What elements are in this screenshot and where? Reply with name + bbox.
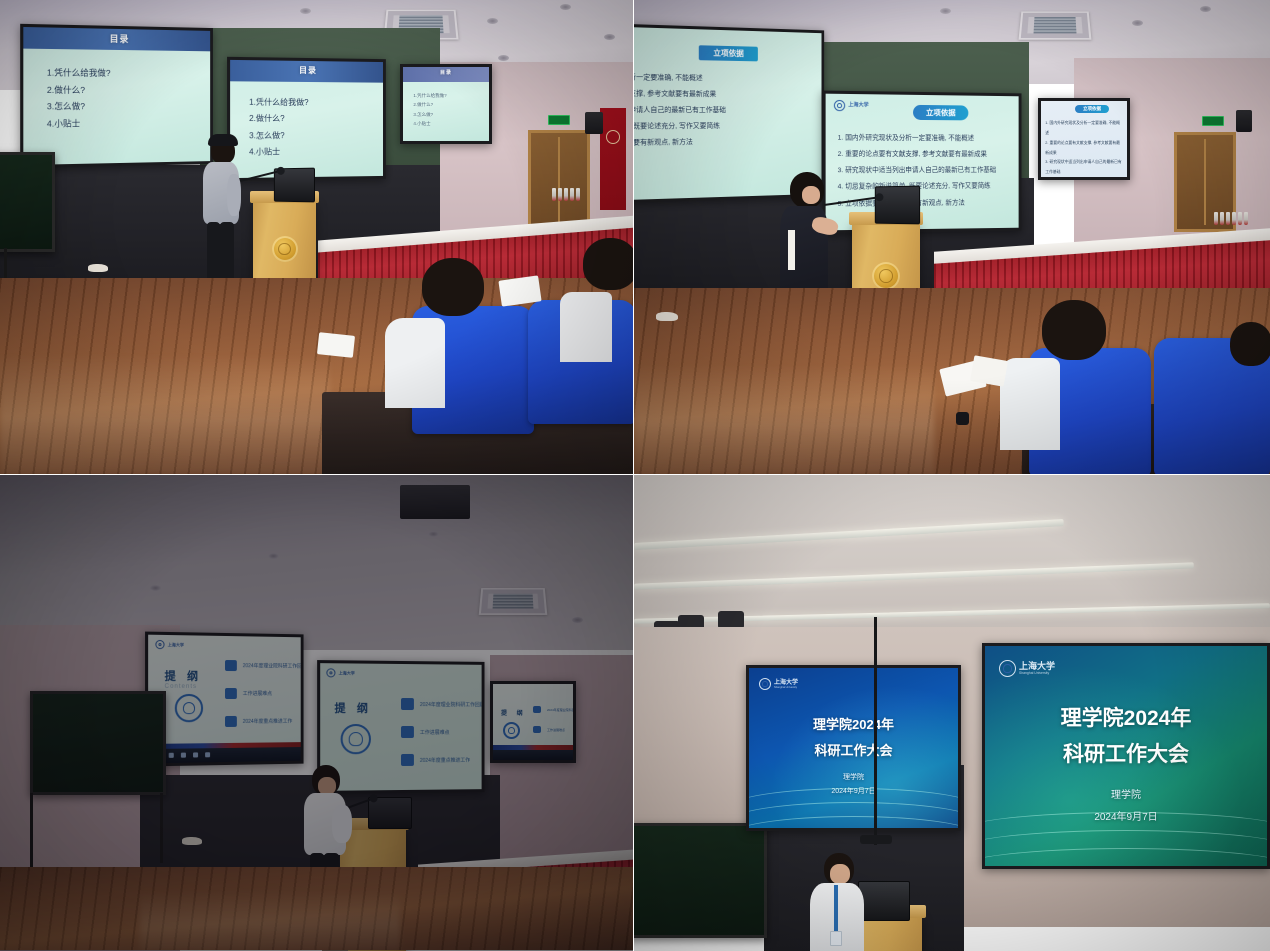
logo-ring-icon	[999, 660, 1016, 677]
downlight-icon	[428, 531, 439, 537]
audience-head	[583, 238, 633, 290]
slide-title-badge: 立项依据	[913, 105, 968, 121]
logo-text: 上海大学	[168, 643, 184, 647]
audience-head	[1230, 322, 1270, 366]
audience-papers	[317, 332, 355, 358]
university-emblem-icon	[341, 724, 371, 754]
podium-emblem-icon	[272, 236, 298, 262]
hall-door[interactable]	[528, 130, 590, 232]
outline-chip-icon	[401, 754, 414, 766]
slide-bullet: 4.小贴士	[413, 119, 484, 128]
outline-item: 2024年度重点推进工作	[401, 754, 470, 766]
university-logo: 上海大学	[326, 668, 354, 677]
taskbar-icon[interactable]	[169, 752, 174, 757]
slide-bullet: 1.凭什么给我做?	[47, 64, 200, 82]
audience-head	[422, 258, 484, 316]
downlight-icon	[604, 34, 615, 40]
slide-bullet: 1. 国内外研究现状及分析一定要准确, 不能概述	[838, 130, 1008, 147]
slide-bullet: 4. 切忌复杂的新说简单, 既要论述充分, 写作又要简练	[1045, 178, 1122, 180]
projection-screen-left: 上海大学 提 纲 Contents 2024年度理业院科研工作回顾 工作进展难点…	[145, 632, 304, 767]
slide-title: 提 纲	[501, 708, 527, 717]
slide-bullet: 2.做什么?	[47, 81, 200, 98]
projection-screen-left: 目录 1.凭什么给我做? 2.做什么? 3.怎么做? 4.小贴士	[20, 24, 213, 168]
collage-panel-bottom-left[interactable]: 上海大学 提 纲 Contents 2024年度理业院科研工作回顾 工作进展难点…	[0, 475, 634, 951]
lanyard	[834, 885, 838, 933]
projection-screen-left: 上海大学 Shanghai University 理学院2024年 科研工作大会…	[746, 665, 961, 831]
slide-org: 理学院	[749, 772, 958, 782]
university-emblem-icon	[175, 694, 203, 722]
slide-bullet: 3.怎么做?	[249, 128, 374, 145]
slide-title-badge: 立项依据	[1075, 105, 1109, 113]
taskbar-icon[interactable]	[205, 752, 210, 757]
slide-bullet-list: 1.凭什么给我做? 2.做什么? 3.怎么做? 4.小贴士	[47, 64, 200, 132]
outline-item-label: 2024年度理业院科研工作回顾	[420, 701, 485, 708]
decorative-wave	[982, 848, 1270, 869]
slide-bullet: 2. 重要的论点要有文献支撑, 参考文献要有最新成果	[838, 147, 1008, 163]
downlight-icon	[498, 55, 509, 61]
slide-bullet: 1.凭什么给我做?	[413, 91, 484, 100]
stray-shoes	[656, 312, 678, 321]
speaker-icon	[585, 112, 603, 134]
downlight-icon	[1132, 20, 1143, 26]
slide-bullet: 1.凭什么给我做?	[249, 95, 374, 112]
blackboard	[30, 691, 166, 795]
university-logo: 上海大学 Shanghai University	[759, 678, 798, 690]
slide-title: 提 纲	[165, 667, 203, 683]
ceiling	[0, 475, 633, 650]
blackboard-leg	[30, 793, 33, 867]
outline-item: 2024年度重点推进工作	[225, 716, 292, 727]
slide-bullet: 4.小贴士	[47, 114, 200, 132]
audience-shirt	[1000, 358, 1060, 450]
speaker	[810, 853, 866, 951]
slide-bullet: 2. 重要的论点要有文献支撑, 参考文献要有最新成果	[634, 86, 806, 104]
outline-item: 2024年度理业院科研工作回顾	[225, 660, 304, 672]
outline-item: 工作进展难点	[533, 726, 565, 733]
podium-emblem-icon	[872, 262, 900, 290]
outline-item: 工作进展难点	[225, 688, 272, 699]
slide-title-line1: 理学院2024年	[749, 716, 958, 735]
audience-papers	[970, 355, 1008, 387]
outline-item-label: 2024年度理业院科研工作回顾	[547, 708, 576, 712]
water-bottles	[552, 188, 580, 201]
downlight-icon	[940, 8, 951, 14]
ceiling-projector	[400, 485, 470, 519]
projection-screen-right: 提 纲 2024年度理业院科研工作回顾 工作进展难点 2024年度重点推进工作	[490, 681, 576, 763]
photo-collage: 目录 1.凭什么给我做? 2.做什么? 3.怎么做? 4.小贴士 目录 1.凭什…	[0, 0, 1270, 951]
microphone-stand	[874, 617, 877, 845]
water-bottles	[1214, 212, 1248, 225]
outline-item: 2024年度理业院科研工作回顾	[533, 706, 576, 713]
presenter-arm	[227, 174, 241, 216]
exit-sign-icon	[1202, 116, 1224, 126]
slide-bullet: 3.怎么做?	[413, 110, 484, 119]
logo-text: 上海大学	[848, 103, 868, 108]
audience-shirt	[385, 318, 445, 408]
outline-item-label: 工作进展难点	[547, 728, 565, 732]
ac-cassette-icon	[479, 588, 548, 615]
logo-ring-icon	[326, 668, 335, 677]
laptop[interactable]	[875, 186, 920, 225]
outline-chip-icon	[533, 726, 541, 733]
stray-shoes	[182, 837, 202, 845]
presenter-cap	[208, 134, 238, 146]
downlight-icon	[300, 8, 311, 14]
microphone-base	[860, 835, 892, 844]
slide-bullet-list: 1. 国内外研究现状及分析一定要准确, 不能概述 2. 重要的论点要有文献支撑,…	[1045, 119, 1122, 180]
slide-title: 目录	[230, 64, 383, 77]
outline-item-label: 2024年度重点推进工作	[420, 756, 470, 763]
outline-item-label: 2024年度理业院科研工作回顾	[243, 662, 304, 669]
slide-bullet: 3. 研究现状中适当列出申请人自己的最新已有工作基础	[1045, 158, 1122, 178]
red-banner	[600, 108, 626, 210]
logo-subtext: Shanghai University	[1019, 671, 1055, 675]
stray-shoes	[88, 264, 108, 272]
audience-head	[1042, 300, 1106, 360]
speaker-face	[830, 864, 850, 884]
outline-chip-icon	[533, 706, 541, 713]
projection-screen-right: 立项依据 1. 国内外研究现状及分析一定要准确, 不能概述 2. 重要的论点要有…	[1038, 98, 1130, 180]
dress-trim	[788, 230, 795, 270]
university-logo: 上海大学 Shanghai University	[999, 660, 1055, 677]
logo-ring-icon	[834, 100, 845, 111]
university-logo: 上海大学	[834, 100, 869, 112]
slide-bullet: 3. 研究现状中适当列出申请人自己的最新已有工作基础	[838, 163, 1008, 179]
projection-screen-right: 目录 1.凭什么给我做? 2.做什么? 3.怎么做? 4.小贴士	[400, 64, 492, 144]
blackboard	[0, 152, 55, 252]
downlight-icon	[560, 4, 571, 10]
floor-reflection	[0, 354, 330, 474]
downlight-icon	[150, 585, 161, 591]
slide-title: 提 纲	[334, 700, 372, 716]
outline-chip-icon	[401, 698, 414, 710]
slide-title-line2: 科研工作大会	[749, 742, 958, 761]
blackboard-leg	[160, 793, 163, 863]
slide-title-badge: 立项依据	[699, 45, 758, 61]
windows-taskbar[interactable]	[493, 750, 573, 760]
slide-title-line1: 理学院2024年	[985, 704, 1267, 734]
outline-chip-icon	[401, 726, 414, 738]
downlight-icon	[1200, 6, 1211, 12]
slide-subtitle: Contents	[165, 684, 197, 690]
outline-item-label: 工作进展难点	[420, 728, 450, 735]
slide-bullet: 3. 研究现状中适当列出申请人自己的最新已有工作基础	[634, 103, 806, 120]
slide-bullet: 4.小贴士	[249, 144, 374, 161]
presenter-arm	[332, 805, 352, 843]
logo-subtext: Shanghai University	[774, 686, 798, 689]
slide-bullet: 5. 立项依据要非常突出, 要有新观点, 新方法	[634, 134, 806, 153]
outline-item-label: 工作进展难点	[243, 690, 272, 697]
downlight-icon	[487, 18, 498, 24]
logo-ring-icon	[759, 678, 771, 690]
slide-bullet-list: 1. 国内外研究现状及分析一定要准确, 不能概述 2. 重要的论点要有文献支撑,…	[634, 69, 806, 154]
floor-reflection	[140, 891, 400, 951]
collage-panel-top-left[interactable]: 目录 1.凭什么给我做? 2.做什么? 3.怎么做? 4.小贴士 目录 1.凭什…	[0, 0, 634, 475]
collage-panel-top-right[interactable]: 立项依据 1. 国内外研究现状及分析一定要准确, 不能概述 2. 重要的论点要有…	[634, 0, 1270, 475]
audience-shirt	[560, 292, 612, 362]
logo-text: 上海大学	[339, 671, 355, 675]
ac-cassette-icon	[1019, 11, 1092, 39]
audience-papers	[498, 275, 541, 306]
slide-bullet-list: 1.凭什么给我做? 2.做什么? 3.怎么做? 4.小贴士	[249, 95, 374, 162]
slide-bullet: 2.做什么?	[249, 111, 374, 128]
slide-bullet: 2. 重要的论点要有文献支撑, 参考文献要有最新成果	[1045, 139, 1122, 159]
outline-chip-icon	[225, 716, 237, 727]
exit-sign-icon	[548, 115, 570, 125]
presenter-face	[802, 186, 820, 204]
blackboard	[634, 823, 767, 938]
slide-org: 理学院	[985, 786, 1267, 801]
university-emblem-icon	[503, 722, 520, 739]
floor-reflection	[634, 364, 934, 474]
downlight-icon	[572, 617, 583, 623]
speaker-icon	[1236, 110, 1252, 132]
slide-bullet: 1. 国内外研究现状及分析一定要准确, 不能概述	[634, 69, 806, 88]
outline-item: 2024年度理业院科研工作回顾	[401, 698, 485, 710]
slide-bullet: 2.做什么?	[413, 100, 484, 109]
slide-bullet: 1. 国内外研究现状及分析一定要准确, 不能概述	[1045, 119, 1122, 139]
projection-screen-center: 目录 1.凭什么给我做? 2.做什么? 3.怎么做? 4.小贴士	[227, 57, 386, 181]
windows-taskbar[interactable]	[148, 747, 301, 763]
logo-ring-icon	[155, 640, 164, 649]
taskbar-icon[interactable]	[193, 752, 198, 757]
outline-chip-icon	[225, 660, 237, 671]
slide-title-line2: 科研工作大会	[985, 740, 1267, 770]
slide-bullet: 3.怎么做?	[47, 98, 200, 115]
collage-panel-bottom-right[interactable]: 上海大学 Shanghai University 理学院2024年 科研工作大会…	[634, 475, 1270, 951]
logo-text: 上海大学	[1019, 662, 1055, 671]
name-badge	[830, 931, 842, 946]
outline-item: 工作进展难点	[401, 726, 449, 738]
slide-bullet: 4. 切忌复杂的新说简单, 既要论述充分, 写作又要简练	[838, 179, 1008, 196]
slide-title: 目录	[403, 69, 489, 76]
taskbar-icon[interactable]	[181, 752, 186, 757]
outline-chip-icon	[225, 688, 237, 699]
slide-bullet-list: 1.凭什么给我做? 2.做什么? 3.怎么做? 4.小贴士	[413, 91, 484, 129]
downlight-icon	[268, 553, 279, 559]
university-logo: 上海大学	[155, 640, 184, 650]
projection-screen-right: 上海大学 Shanghai University 理学院2024年 科研工作大会…	[982, 643, 1270, 869]
audience-watch	[956, 412, 969, 425]
outline-item-label: 2024年度重点推进工作	[243, 718, 292, 725]
